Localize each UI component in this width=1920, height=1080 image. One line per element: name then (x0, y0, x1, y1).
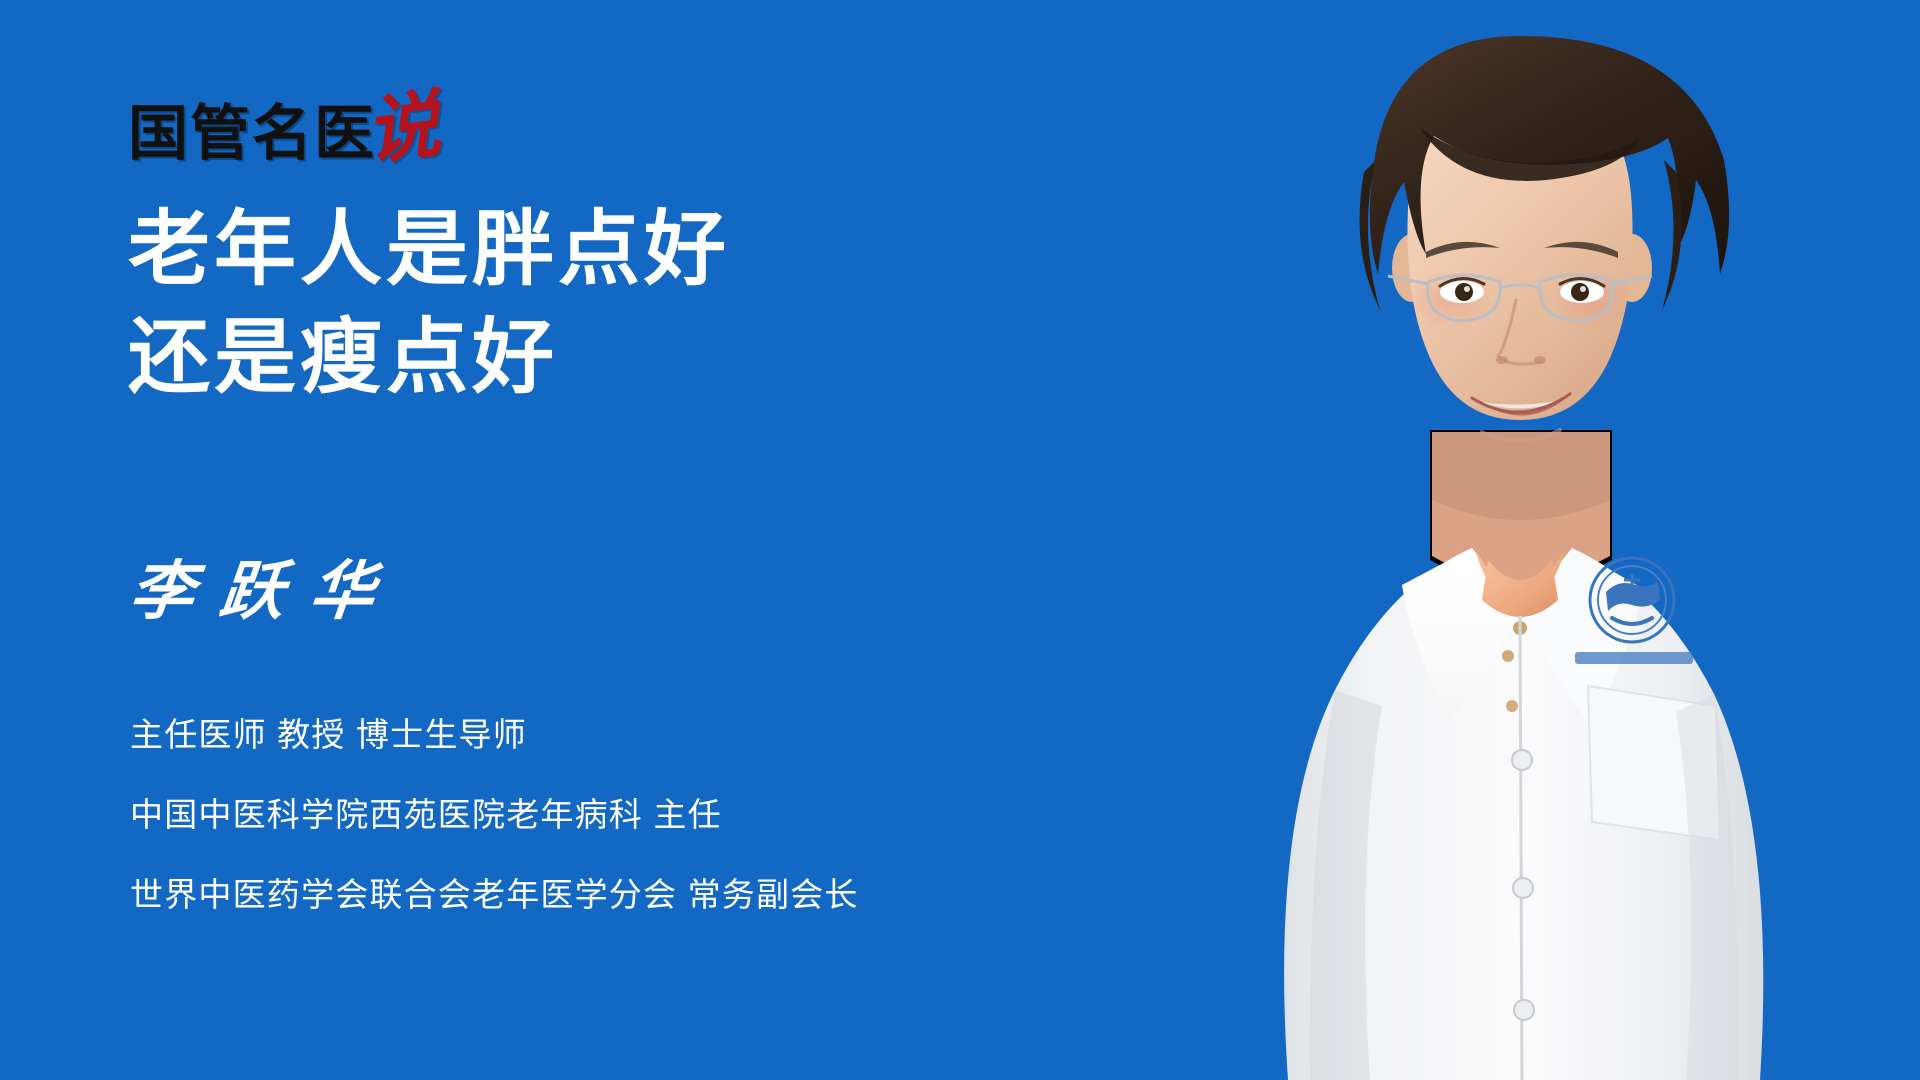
brand-logo-accent-text: 说 (361, 88, 443, 170)
headline-line-1: 老年人是胖点好 (128, 196, 1028, 304)
headline-block: 老年人是胖点好 还是瘦点好 (128, 196, 1028, 412)
poster-canvas: 国管名医 说 老年人是胖点好 还是瘦点好 李跃华 主任医师 教授 博士生导师 中… (0, 0, 1920, 1080)
headline-line-2: 还是瘦点好 (128, 304, 1028, 412)
brand-logo-main-text: 国管名医 (128, 104, 376, 164)
credential-line-2: 中国中医科学院西苑医院老年病科 主任 (130, 798, 1130, 831)
glasses-icon (1388, 275, 1652, 321)
doctor-portrait-photo (1120, 0, 1920, 1080)
doctor-name: 李跃华 (127, 560, 404, 624)
doctor-credentials-block: 主任医师 教授 博士生导师 中国中医科学院西苑医院老年病科 主任 世界中医药学会… (130, 718, 1130, 911)
credential-line-3: 世界中医药学会联合会老年医学分会 常务副会长 (130, 878, 1130, 911)
coat-badge-emblem (1590, 558, 1674, 642)
credential-line-1: 主任医师 教授 博士生导师 (130, 718, 1130, 751)
brand-logo: 国管名医 说 (128, 92, 444, 170)
